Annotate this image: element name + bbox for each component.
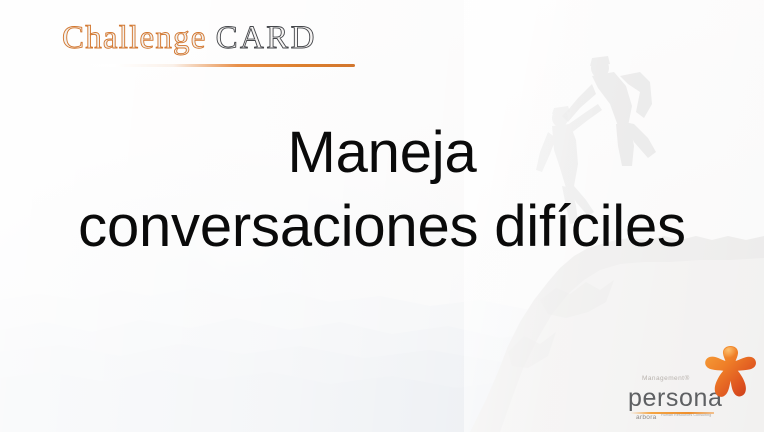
persona-subtext-arbora: arbora — [636, 414, 657, 421]
challenge-card-logo: ChallengeCARD — [62, 22, 372, 67]
brand-underline-rule — [62, 64, 355, 67]
persona-superscript-management: Management® — [642, 375, 690, 382]
brand-word-challenge: Challenge — [62, 20, 207, 56]
title-line-1: Maneja — [42, 116, 722, 190]
title-line-2: conversaciones difíciles — [42, 190, 722, 264]
slide-title: Maneja conversaciones difíciles — [0, 116, 764, 264]
brand-wordmark: ChallengeCARD — [62, 22, 372, 55]
persona-arbora-logo: Management® persona arbora Human Resourc… — [628, 344, 758, 426]
person-star-icon — [702, 344, 758, 406]
brand-word-card: CARD — [216, 20, 317, 56]
challenge-card-slide: ChallengeCARD Maneja conversaciones difí… — [0, 0, 764, 432]
persona-subtext-tagline: Human Resources Consulting — [661, 413, 711, 417]
